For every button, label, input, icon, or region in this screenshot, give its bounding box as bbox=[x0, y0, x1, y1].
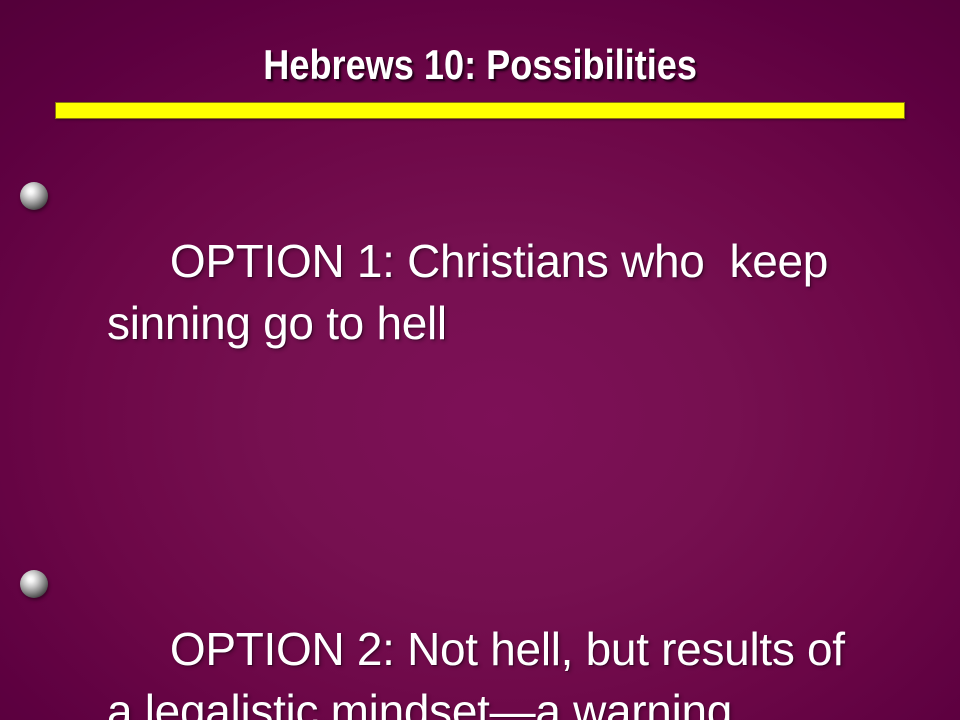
page-title: Hebrews 10: Possibilities bbox=[263, 40, 697, 90]
metallic-sphere-bullet-icon bbox=[20, 182, 48, 210]
slide-title-block: Hebrews 10: Possibilities bbox=[0, 40, 960, 90]
bullet-line-primary: OPTION 2: Not hell, but results of bbox=[170, 623, 845, 675]
list-item: OPTION 2: Not hell, but results ofa lega… bbox=[0, 556, 960, 720]
bullet-list: OPTION 1: Christians who keepsinning go … bbox=[0, 168, 960, 720]
bullet-text-option-1: OPTION 1: Christians who keepsinning go … bbox=[0, 168, 960, 478]
list-item: OPTION 1: Christians who keepsinning go … bbox=[0, 168, 960, 478]
bullet-text-option-2: OPTION 2: Not hell, but results ofa lega… bbox=[0, 556, 960, 720]
bullet-line-wrapped: a legalistic mindset—a warning. bbox=[70, 680, 920, 720]
bullet-line-wrapped: sinning go to hell bbox=[70, 292, 920, 354]
metallic-sphere-bullet-icon bbox=[20, 570, 48, 598]
bullet-line-primary: OPTION 1: Christians who keep bbox=[170, 235, 828, 287]
title-underline-rule bbox=[55, 102, 905, 119]
presentation-slide: Hebrews 10: Possibilities OPTION 1: Chri… bbox=[0, 0, 960, 720]
